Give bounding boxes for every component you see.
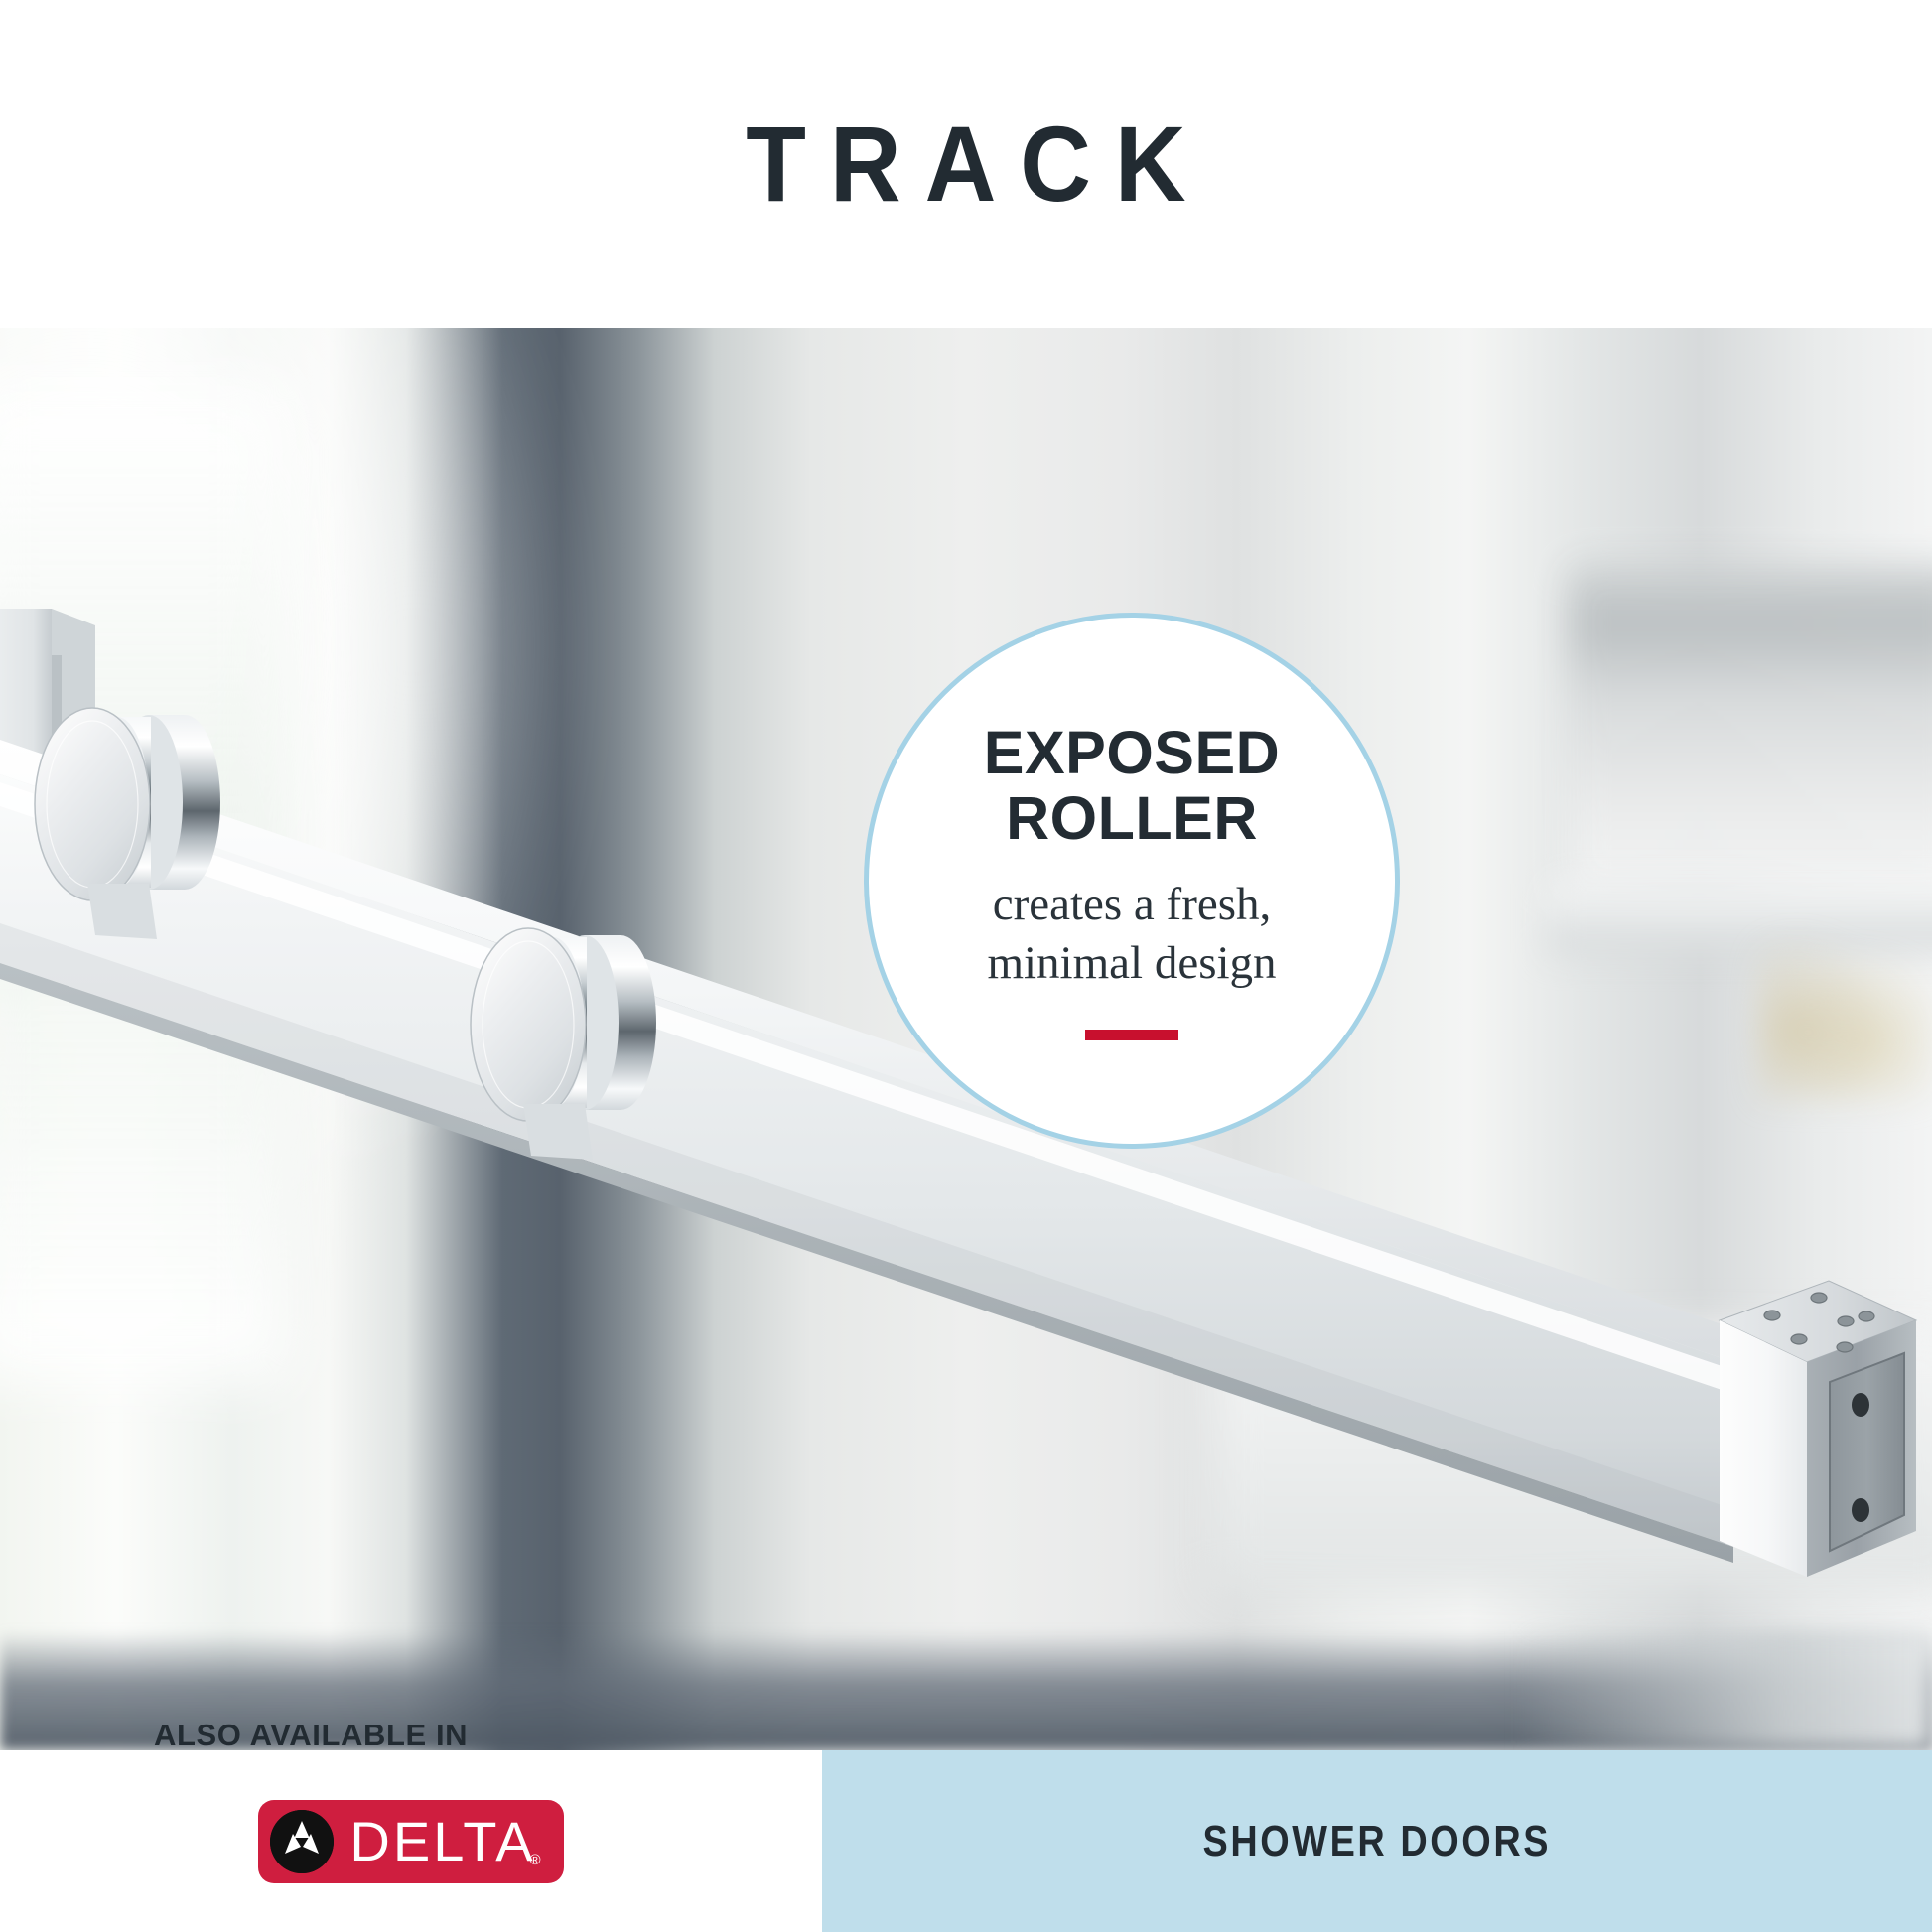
delta-wordmark: DELTA ® [349, 1814, 541, 1869]
background-floor-band-right [1515, 1631, 1932, 1750]
available-finishes: ALSO AVAILABLE IN BRUSHED NICKEL MATTE B… [154, 1718, 511, 1750]
background-window [0, 387, 288, 1380]
callout-subtext-line2: minimal design [987, 934, 1276, 993]
callout-headline-line1: EXPOSED [984, 721, 1280, 786]
callout-subtext: creates a fresh, minimal design [987, 876, 1276, 993]
available-finishes-label: ALSO AVAILABLE IN [154, 1718, 511, 1750]
footer-category-area: SHOWER DOORS [822, 1750, 1932, 1932]
callout-headline-line2: ROLLER [984, 786, 1280, 852]
delta-wordmark-text: DELTA [349, 1810, 535, 1872]
footer-category-label: SHOWER DOORS [1203, 1817, 1552, 1866]
page-header: TRACK [0, 0, 1932, 328]
background-counter [1211, 1330, 1932, 1588]
page-footer: DELTA ® SHOWER DOORS [0, 1750, 1932, 1932]
product-photo-stage: EXPOSED ROLLER creates a fresh, minimal … [0, 328, 1932, 1750]
page-title: TRACK [722, 110, 1209, 217]
footer-brand-area: DELTA ® [0, 1750, 822, 1932]
delta-triangle-icon [270, 1810, 334, 1873]
background-bottles [1757, 923, 1932, 1102]
registered-trademark-icon: ® [530, 1853, 544, 1867]
callout-subtext-line1: creates a fresh, [987, 876, 1276, 934]
feature-callout-badge: EXPOSED ROLLER creates a fresh, minimal … [864, 613, 1400, 1149]
background-shower-niche [1569, 566, 1932, 894]
callout-headline: EXPOSED ROLLER [984, 721, 1280, 852]
delta-logo[interactable]: DELTA ® [258, 1800, 563, 1883]
callout-accent-rule [1085, 1030, 1178, 1040]
